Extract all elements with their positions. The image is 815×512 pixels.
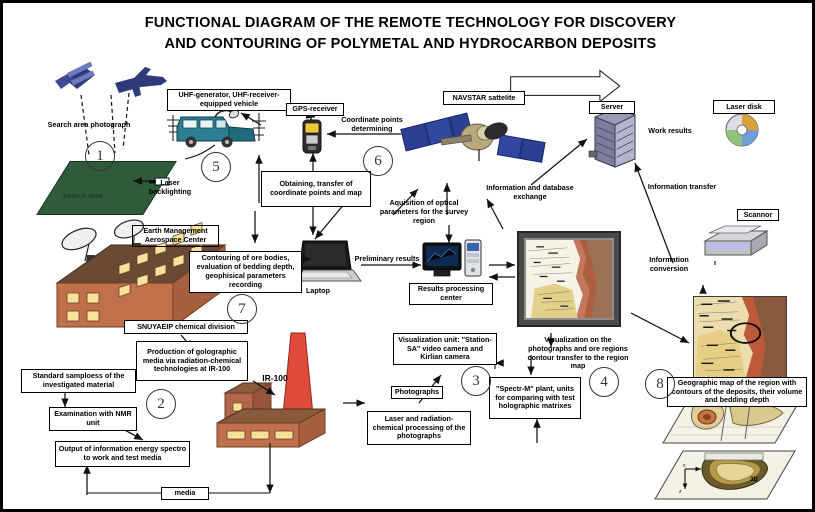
step-circle-4: 4 bbox=[589, 367, 619, 397]
box-earth-aerospace-center[interactable]: Earth Management Aerospace Center bbox=[132, 225, 219, 247]
box-results-processing-center[interactable]: Results processing center bbox=[409, 283, 493, 305]
label-visualization-region-map: Visualization on the photographs and ore… bbox=[523, 336, 633, 371]
label-3d-dimension: 3D bbox=[745, 477, 763, 484]
label-search-area-photograph: Search area photograph bbox=[29, 121, 149, 130]
title-line-2: AND CONTOURING OF POLYMETAL AND HYDROCAR… bbox=[3, 34, 815, 55]
box-laser-disk[interactable]: Laser disk bbox=[713, 100, 775, 114]
box-server[interactable]: Server bbox=[589, 101, 635, 114]
svg-text:x: x bbox=[683, 463, 686, 469]
step-circle-8: 8 bbox=[645, 369, 675, 399]
box-photographs[interactable]: Photographs bbox=[391, 386, 443, 399]
step-circle-2: 2 bbox=[146, 389, 176, 419]
diagram-canvas: FUNCTIONAL DIAGRAM OF THE REMOTE TECHNOL… bbox=[0, 0, 815, 512]
label-acquisition-optical-parameters: Aquisition of optical parameters for the… bbox=[375, 199, 473, 225]
box-uhf-vehicle[interactable]: UHF-generator, UHF-receiver-equipped veh… bbox=[167, 89, 291, 111]
box-spectr-m-plant[interactable]: "Spectr-M" plant, units for comparing wi… bbox=[489, 377, 581, 419]
label-information-conversion: Information conversion bbox=[633, 256, 705, 274]
step-circle-3: 3 bbox=[461, 366, 491, 396]
box-output-spectra[interactable]: Output of information energy spectro to … bbox=[55, 441, 190, 467]
geographic-deposit-map bbox=[693, 296, 787, 380]
step-circle-1: 1 bbox=[85, 141, 115, 171]
box-snuyaeip-chemical-division[interactable]: SNUYAEIP chemical division bbox=[124, 320, 248, 334]
box-scanner[interactable]: Scannor bbox=[737, 209, 779, 221]
step-circle-6: 6 bbox=[363, 146, 393, 176]
label-ir100: IR-100 bbox=[253, 373, 297, 383]
label-information-transfer: Information transfer bbox=[637, 183, 727, 192]
box-geographic-map[interactable]: Geographic map of the region with contou… bbox=[667, 377, 807, 407]
box-visualization-unit[interactable]: Visualization unit: "Station-SA" video c… bbox=[393, 333, 497, 365]
label-laser-backlighting: Laser backlighting bbox=[139, 179, 201, 197]
label-work-results: Work results bbox=[639, 127, 701, 136]
label-coordinate-points-determining: Coordinate points determining bbox=[331, 116, 413, 134]
label-laptop: Laptop bbox=[295, 287, 341, 296]
step-circle-5: 5 bbox=[201, 152, 231, 182]
box-production-holographic-media[interactable]: Production of golographic media via radi… bbox=[136, 341, 248, 381]
step-circle-7: 7 bbox=[227, 294, 257, 324]
box-obtaining-transfer[interactable]: Obtaining, transfer of coordinate points… bbox=[261, 171, 371, 207]
search-area-label: Search area bbox=[63, 193, 103, 200]
svg-text:z: z bbox=[679, 489, 682, 495]
framed-map-image bbox=[524, 238, 614, 320]
box-gps-receiver[interactable]: GPS-receiver bbox=[286, 103, 344, 116]
page-title: FUNCTIONAL DIAGRAM OF THE REMOTE TECHNOL… bbox=[3, 13, 815, 54]
label-information-database-exchange: Information and database exchange bbox=[484, 184, 576, 202]
label-preliminary-results: Preliminary results bbox=[349, 255, 425, 264]
box-standard-samples[interactable]: Standard samploess of the investigated m… bbox=[21, 369, 136, 393]
box-contouring-ore-bodies[interactable]: Contouring of ore bodies, evaluation of … bbox=[189, 251, 302, 293]
box-navstar-satellite[interactable]: NAVSTAR satteIite bbox=[443, 91, 525, 105]
work-results-block-arrow bbox=[511, 71, 620, 102]
title-line-1: FUNCTIONAL DIAGRAM OF THE REMOTE TECHNOL… bbox=[3, 13, 815, 34]
box-laser-radiation-processing[interactable]: Laser and radiation-chemical processing … bbox=[367, 411, 471, 445]
box-media[interactable]: media bbox=[161, 487, 209, 500]
box-nmr-examination[interactable]: Examination with NMR unit bbox=[49, 407, 137, 431]
framed-region-map bbox=[517, 231, 621, 327]
